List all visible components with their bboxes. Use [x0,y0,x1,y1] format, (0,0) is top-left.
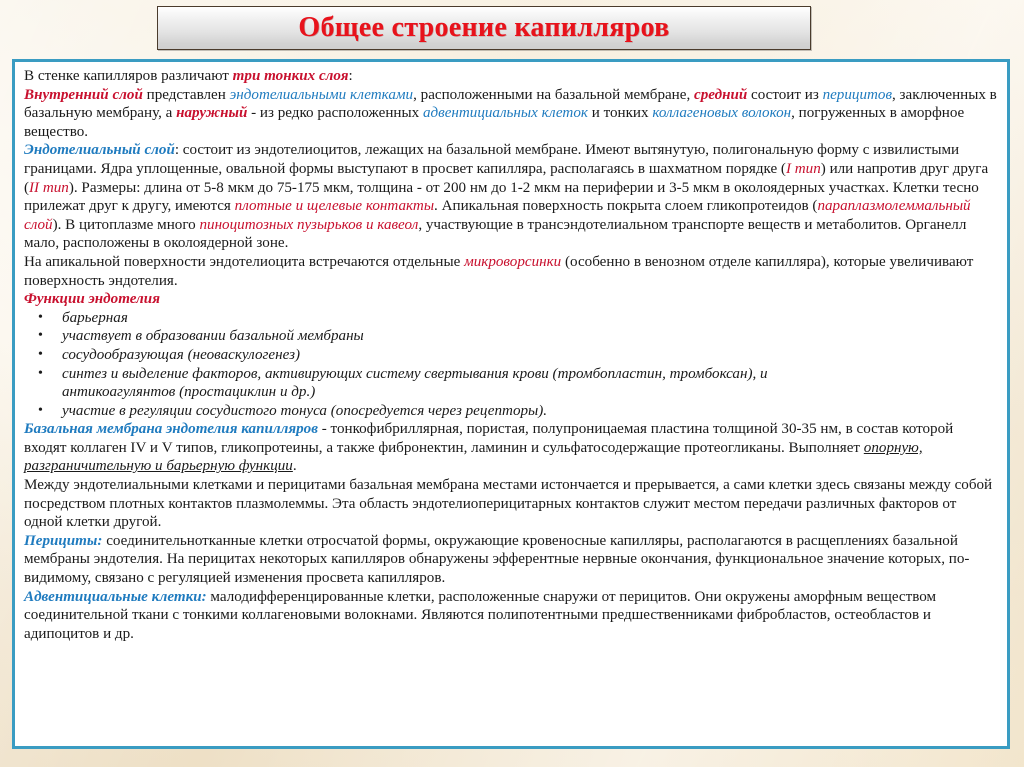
term-tight-gap-junctions: плотные и щелевые контакты [235,198,434,214]
term-type-ii: II тип [29,180,69,196]
basal-membrane-text-2: . [293,458,297,474]
layers-text-2: , расположенными на базальной мембране, [413,87,694,103]
contacts-text: Между эндотелиальными клетками и перицит… [24,477,992,530]
heading-endothelium-functions: Функции эндотелия [24,290,998,309]
paragraph-layers: Внутренний слой представлен эндотелиальн… [24,86,998,142]
paragraph-basal-membrane: Базальная мембрана эндотелия капилляров … [24,420,998,476]
term-endothelial-cells: эндотелиальными клетками [230,87,413,103]
endothelial-text-5: ). В цитоплазме много [53,217,200,233]
paragraph-microvilli: На апикальной поверхности эндотелиоцита … [24,253,998,290]
list-item-label: барьерная [62,310,128,326]
term-pinocytotic-vesicles: пиноцитозных пузырьков и кавеол [199,217,418,233]
layers-text-3: состоит из [747,87,822,103]
list-item-label: сосудообразующая (неоваскулогенез) [62,347,300,363]
term-endothelial-layer: Эндотелиальный слой [24,142,175,158]
bullet-icon: • [38,365,43,384]
term-adventitial-cells: адвентициальных клеток [423,105,588,121]
list-item: •сосудообразующая (неоваскулогенез) [24,346,998,365]
layers-text-1: представлен [143,87,230,103]
list-item-continuation: антикоагулянтов (простациклин и др.) [62,383,998,402]
term-basal-membrane: Базальная мембрана эндотелия капилляров [24,421,318,437]
layers-text-6: и тонких [588,105,652,121]
intro-emphasis-three-layers: три тонких слоя [233,68,349,84]
heading-endothelium-functions-label: Функции эндотелия [24,291,160,307]
paragraph-adventitial-cells: Адвентициальные клетки: малодифференциро… [24,588,998,644]
term-inner-layer: Внутренний слой [24,87,143,103]
list-item: •участвует в образовании базальной мембр… [24,327,998,346]
list-item: •синтез и выделение факторов, активирующ… [24,365,998,402]
content-panel: В стенке капилляров различают три тонких… [12,59,1010,749]
term-type-i: I тип [786,161,821,177]
paragraph-endothelio-pericyte-contacts: Между эндотелиальными клетками и перицит… [24,476,998,532]
microvilli-text-1: На апикальной поверхности эндотелиоцита … [24,254,464,270]
layers-text-5: - из редко расположенных [247,105,423,121]
endothelial-text-4: . Апикальная поверхность покрыта слоем г… [434,198,817,214]
term-collagen-fibers: коллагеновых волокон [652,105,791,121]
slide-title-plate: Общее строение капилляров [157,6,811,50]
term-outer-layer: наружный [176,105,247,121]
term-adventitial-cells-heading: Адвентициальные клетки: [24,589,207,605]
body-text: В стенке капилляров различают три тонких… [24,67,998,643]
bullet-icon: • [38,402,43,421]
term-pericytes: перицитов [823,87,892,103]
intro-text-2: : [349,68,353,84]
paragraph-pericytes: Перициты: соединительнотканные клетки от… [24,532,998,588]
term-pericytes-heading: Перициты: [24,533,102,549]
paragraph-endothelial-layer: Эндотелиальный слой: состоит из эндотели… [24,141,998,253]
bullet-icon: • [38,309,43,328]
pericytes-text: соединительнотканные клетки отросчатой ф… [24,533,969,586]
term-middle-layer: средний [694,87,747,103]
term-microvilli: микроворсинки [464,254,561,270]
bullet-icon: • [38,346,43,365]
list-item: •барьерная [24,309,998,328]
list-item-label: синтез и выделение факторов, активирующи… [62,366,768,382]
list-item-label: участвует в образовании базальной мембра… [62,328,364,344]
list-item-label: участие в регуляции сосудистого тонуса (… [62,403,547,419]
bullet-icon: • [38,327,43,346]
slide: Общее строение капилляров В стенке капил… [0,0,1024,767]
endothelium-functions-list: •барьерная •участвует в образовании база… [24,309,998,421]
list-item: •участие в регуляции сосудистого тонуса … [24,402,998,421]
paragraph-intro: В стенке капилляров различают три тонких… [24,67,998,86]
page-title: Общее строение капилляров [298,14,669,42]
intro-text-1: В стенке капилляров различают [24,68,233,84]
